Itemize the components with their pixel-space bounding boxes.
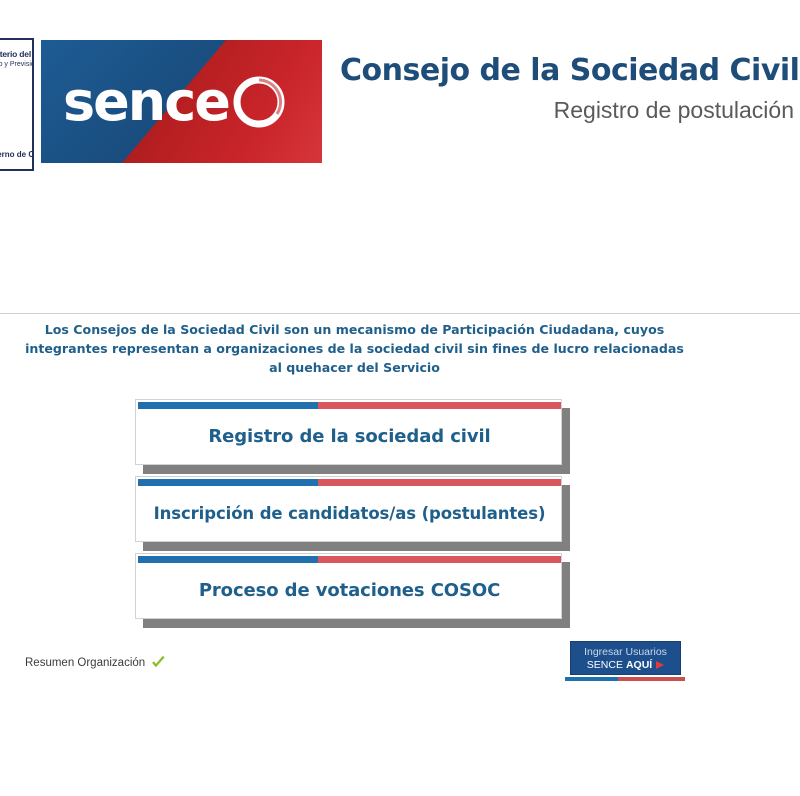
card-stripe xyxy=(138,402,561,409)
resumen-organizacion-label: Resumen Organización xyxy=(25,657,145,669)
option-card-wrapper: Proceso de votaciones COSOC xyxy=(135,553,562,619)
option-card-wrapper: Inscripción de candidatos/as (postulante… xyxy=(135,476,562,542)
stripe-blue-segment xyxy=(138,402,318,409)
page-root: Ministerio del Trabajo y Previsión Socia… xyxy=(0,0,800,796)
page-title: Consejo de la Sociedad Civil xyxy=(340,52,794,90)
ingresar-aqui-text: AQUÍ xyxy=(626,659,652,672)
stripe-red-segment xyxy=(618,677,685,681)
stripe-blue-segment xyxy=(565,677,618,681)
gobierno-de-chile-logo: Ministerio del Trabajo y Previsión Socia… xyxy=(0,38,34,171)
red-play-arrow-icon xyxy=(656,661,664,669)
stripe-red-segment xyxy=(318,402,561,409)
page-subtitle: Registro de postulación xyxy=(340,94,794,126)
ingresar-button-box[interactable]: Ingresar Usuarios SENCE AQUÍ xyxy=(570,641,681,675)
option-card-label: Registro de la sociedad civil xyxy=(136,409,562,465)
ingresar-line-1: Ingresar Usuarios xyxy=(584,646,667,659)
option-card-label: Proceso de votaciones COSOC xyxy=(136,563,562,619)
option-cards-list: Registro de la sociedad civil Inscripció… xyxy=(135,399,575,630)
stripe-red-segment xyxy=(318,556,561,563)
ministry-line-1: Ministerio del xyxy=(0,49,27,59)
option-card-proceso-votaciones-cosoc[interactable]: Proceso de votaciones COSOC xyxy=(135,553,562,619)
header-divider xyxy=(0,313,800,314)
option-card-label: Inscripción de candidatos/as (postulante… xyxy=(136,486,562,542)
card-stripe xyxy=(138,479,561,486)
gobierno-logo-inner: Ministerio del Trabajo y Previsión Socia… xyxy=(0,40,32,169)
ingresar-line-2: SENCE AQUÍ xyxy=(587,659,664,672)
ministry-line-3: Gobierno de Chile xyxy=(0,150,34,159)
stripe-red-segment xyxy=(318,479,561,486)
ministry-line-2: Trabajo y Previsión Social xyxy=(0,60,27,69)
page-header: Ministerio del Trabajo y Previsión Socia… xyxy=(0,0,800,180)
card-stripe xyxy=(138,556,561,563)
stripe-blue-segment xyxy=(138,556,318,563)
resumen-organizacion-item[interactable]: Resumen Organización xyxy=(25,655,166,670)
sence-wordmark-icon: sence xyxy=(63,68,303,134)
green-check-icon xyxy=(151,655,166,670)
ingresar-button-stripe xyxy=(565,677,685,681)
option-card-wrapper: Registro de la sociedad civil xyxy=(135,399,562,465)
option-card-registro-sociedad-civil[interactable]: Registro de la sociedad civil xyxy=(135,399,562,465)
ingresar-usuarios-button[interactable]: Ingresar Usuarios SENCE AQUÍ xyxy=(570,641,681,681)
ingresar-sence-text: SENCE xyxy=(587,659,623,672)
intro-paragraph: Los Consejos de la Sociedad Civil son un… xyxy=(22,320,687,377)
stripe-blue-segment xyxy=(138,479,318,486)
page-title-block: Consejo de la Sociedad Civil Registro de… xyxy=(340,52,800,126)
option-card-inscripcion-candidatos[interactable]: Inscripción de candidatos/as (postulante… xyxy=(135,476,562,542)
svg-text:sence: sence xyxy=(63,70,229,133)
sence-logo-banner: sence xyxy=(41,40,322,163)
